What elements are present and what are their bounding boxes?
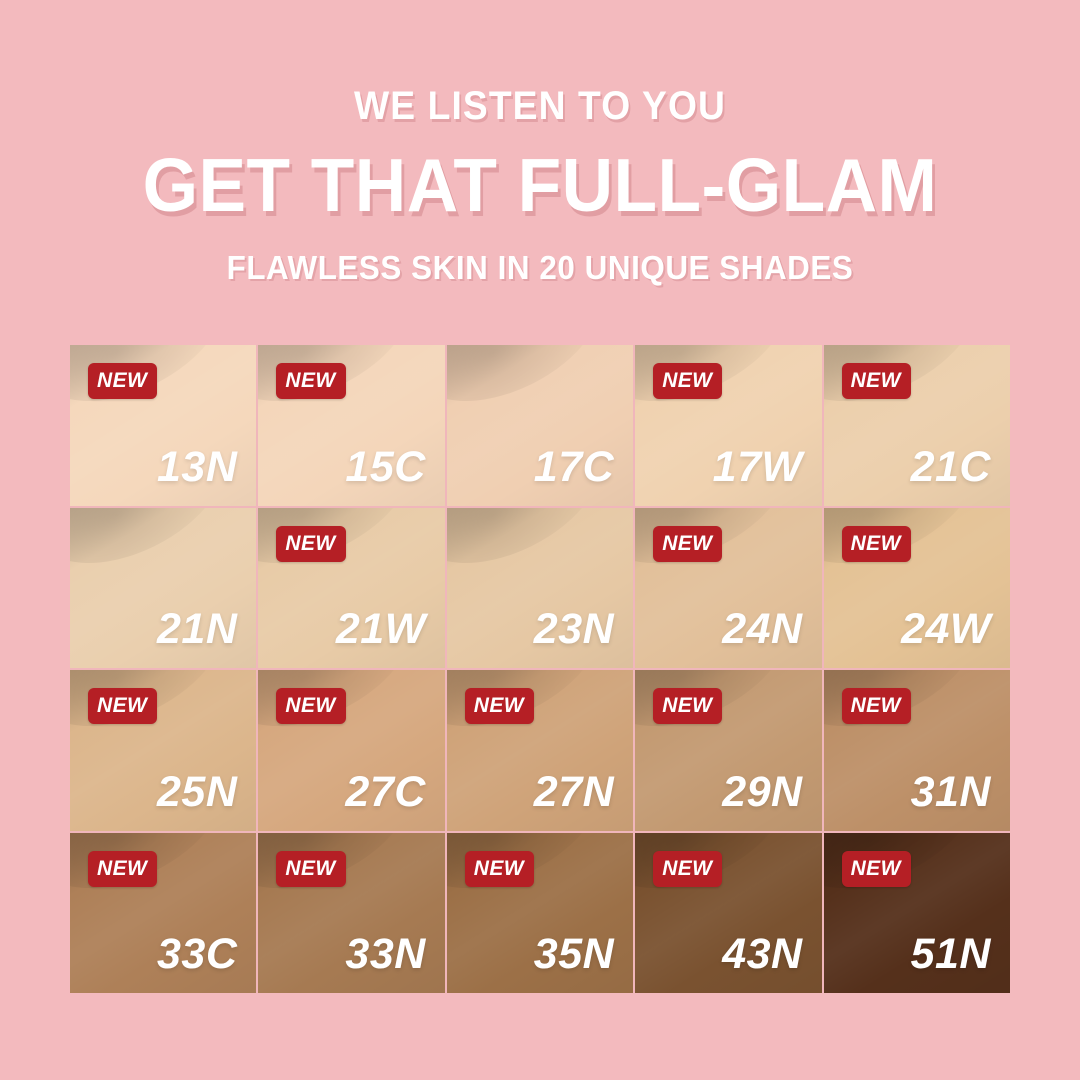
shade-code-label: 27C [345, 771, 425, 814]
shade-code-label: 24W [901, 608, 991, 651]
new-badge: NEW [842, 851, 911, 887]
shade-swatch[interactable]: NEW17W [635, 345, 821, 506]
shade-code-label: 23N [534, 608, 614, 651]
shade-swatch[interactable]: NEW33N [258, 833, 444, 994]
shade-grid: NEW13NNEW15C17CNEW17WNEW21C21NNEW21W23NN… [70, 345, 1010, 993]
swatch-highlight [447, 345, 622, 428]
shade-code-label: 21W [336, 608, 426, 651]
shade-code-label: 33N [345, 933, 425, 976]
new-badge: NEW [276, 688, 345, 724]
shade-code-label: 13N [157, 446, 237, 489]
shade-code-label: 17C [534, 446, 614, 489]
shade-code-label: 15C [345, 446, 425, 489]
shade-code-label: 17W [713, 446, 803, 489]
new-badge: NEW [653, 851, 722, 887]
shade-code-label: 27N [534, 771, 614, 814]
shade-swatch[interactable]: 21N [70, 508, 256, 669]
shade-swatch[interactable]: NEW33C [70, 833, 256, 994]
promo-header: WE LISTEN TO YOU GET THAT FULL-GLAM FLAW… [0, 0, 1080, 284]
shade-code-label: 35N [534, 933, 614, 976]
swatch-highlight [70, 508, 245, 591]
shade-swatch[interactable]: NEW13N [70, 345, 256, 506]
shade-swatch[interactable]: NEW43N [635, 833, 821, 994]
shade-swatch[interactable]: 17C [447, 345, 633, 506]
new-badge: NEW [88, 851, 157, 887]
shade-swatch[interactable]: 23N [447, 508, 633, 669]
new-badge: NEW [842, 363, 911, 399]
eyebrow-text: WE LISTEN TO YOU [38, 86, 1042, 126]
shade-swatch[interactable]: NEW15C [258, 345, 444, 506]
subhead-text: FLAWLESS SKIN IN 20 UNIQUE SHADES [27, 251, 1053, 284]
swatch-highlight [447, 508, 622, 591]
new-badge: NEW [465, 688, 534, 724]
shade-swatch[interactable]: NEW27N [447, 670, 633, 831]
new-badge: NEW [653, 526, 722, 562]
shade-code-label: 24N [722, 608, 802, 651]
new-badge: NEW [276, 526, 345, 562]
shade-code-label: 33C [157, 933, 237, 976]
new-badge: NEW [842, 526, 911, 562]
shade-swatch[interactable]: NEW35N [447, 833, 633, 994]
new-badge: NEW [88, 363, 157, 399]
shade-swatch[interactable]: NEW27C [258, 670, 444, 831]
new-badge: NEW [653, 688, 722, 724]
shade-swatch[interactable]: NEW51N [824, 833, 1010, 994]
shade-code-label: 51N [911, 933, 991, 976]
new-badge: NEW [465, 851, 534, 887]
shade-swatch[interactable]: NEW31N [824, 670, 1010, 831]
shade-code-label: 31N [911, 771, 991, 814]
new-badge: NEW [88, 688, 157, 724]
shade-code-label: 21C [911, 446, 991, 489]
shade-swatch[interactable]: NEW21C [824, 345, 1010, 506]
shade-code-label: 21N [157, 608, 237, 651]
new-badge: NEW [276, 851, 345, 887]
shade-swatch[interactable]: NEW24N [635, 508, 821, 669]
shade-swatch[interactable]: NEW24W [824, 508, 1010, 669]
new-badge: NEW [276, 363, 345, 399]
shade-swatch[interactable]: NEW29N [635, 670, 821, 831]
shade-swatch[interactable]: NEW25N [70, 670, 256, 831]
shade-code-label: 29N [722, 771, 802, 814]
shade-code-label: 25N [157, 771, 237, 814]
shade-code-label: 43N [722, 933, 802, 976]
headline-text: GET THAT FULL-GLAM [27, 148, 1053, 223]
new-badge: NEW [842, 688, 911, 724]
new-badge: NEW [653, 363, 722, 399]
shade-swatch[interactable]: NEW21W [258, 508, 444, 669]
